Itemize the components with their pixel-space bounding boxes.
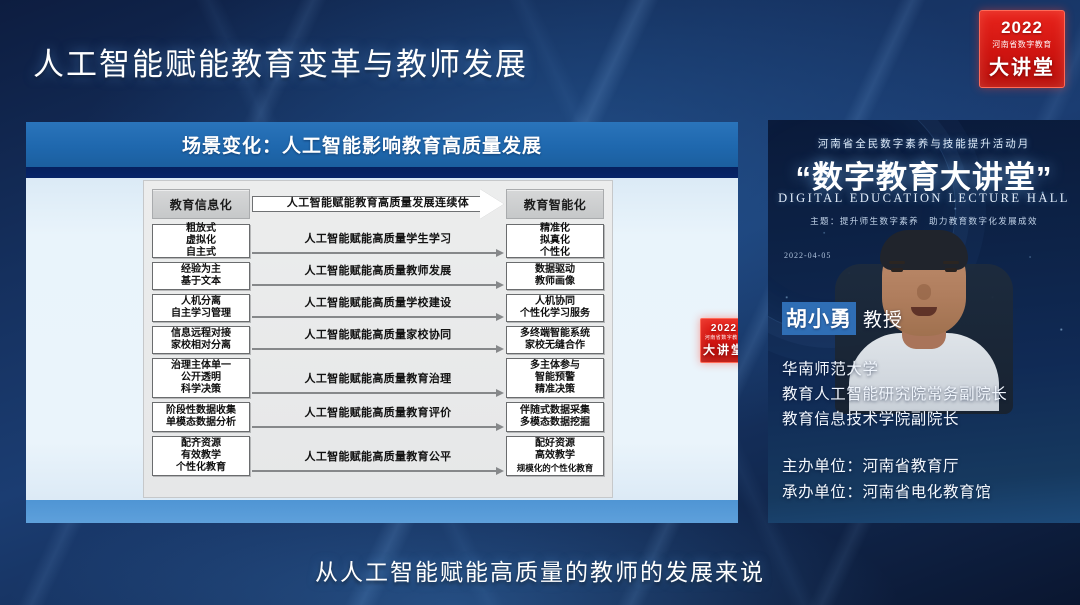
arrow-tip: [496, 313, 504, 321]
arrow-line: [252, 470, 497, 472]
arrow-line: [252, 392, 497, 394]
left-box-line: 单模态数据分析: [166, 417, 236, 429]
right-box-line: 高效教学: [535, 450, 575, 462]
left-cap-box: 教育信息化: [152, 189, 250, 219]
left-box-line: 个性化教育: [176, 462, 226, 474]
left-box-line: 自主学习管理: [171, 308, 231, 320]
video-banner-top: 河南省全民数字素养与技能提升活动月: [768, 136, 1080, 151]
left-box-line: 治理主体单一: [171, 360, 231, 372]
brand-logo-main: 大讲堂: [989, 51, 1055, 80]
continuum-label: 人工智能赋能教育高质量发展连续体: [252, 194, 504, 210]
diagram-row-right-box: 配好资源高效教学规模化的个性化教育: [506, 436, 604, 476]
right-box-line: 拟真化: [540, 235, 570, 247]
diagram-row-right-box: 伴随式数据采集多模态数据挖掘: [506, 402, 604, 432]
diagram-row-left-box: 粗放式虚拟化自主式: [152, 224, 250, 258]
slide-body: 教育信息化 人工智能赋能教育高质量发展连续体 教育智能化 粗放式虚拟化自主式人工…: [26, 178, 738, 500]
diagram-row-label: 人工智能赋能高质量学校建设: [252, 294, 504, 310]
speaker-name: 胡小勇: [782, 302, 856, 335]
slide-header: 场景变化：人工智能影响教育高质量发展: [26, 122, 738, 167]
arrow-line: [252, 426, 497, 428]
left-box-line: 公开透明: [181, 372, 221, 384]
right-box-line: 智能预警: [535, 372, 575, 384]
diagram-rows: 粗放式虚拟化自主式人工智能赋能高质量学生学习精准化拟真化个性化经验为主基于文本人…: [152, 224, 604, 476]
right-box-line: 家校无缝合作: [525, 340, 585, 352]
speaker-affiliations: 华南师范大学教育人工智能研究院常务副院长教育信息技术学院副院长: [782, 357, 1066, 432]
slide-brand-logo: 2022 河南省数字教育 大讲堂: [700, 318, 738, 363]
diagram-row-right-box: 数据驱动教师画像: [506, 262, 604, 290]
diagram-row-middle: 人工智能赋能高质量学校建设: [252, 294, 504, 322]
slide-brand-logo-subtitle: 河南省数字教育: [705, 334, 738, 341]
nose-shape: [917, 284, 931, 300]
diagram-row-middle: 人工智能赋能高质量教师发展: [252, 262, 504, 290]
eye-right: [945, 268, 957, 272]
slide-brand-logo-main: 大讲堂: [703, 341, 738, 358]
diagram-row-left-box: 阶段性数据收集单模态数据分析: [152, 402, 250, 432]
speaker-affiliation-line: 教育人工智能研究院常务副院长: [782, 382, 1066, 407]
right-box-line: 规模化的个性化教育: [517, 462, 594, 474]
diagram-row: 阶段性数据收集单模态数据分析人工智能赋能高质量教育评价伴随式数据采集多模态数据挖…: [152, 402, 604, 432]
diagram-row-middle: 人工智能赋能高质量学生学习: [252, 224, 504, 258]
left-box-line: 人机分离: [181, 296, 221, 308]
subtitle-caption: 从人工智能赋能高质量的教师的发展来说: [0, 553, 1080, 587]
left-box-line: 基于文本: [181, 276, 221, 288]
continuum-arrow: 人工智能赋能教育高质量发展连续体: [252, 192, 504, 216]
speaker-title: 教授: [863, 305, 903, 332]
left-box-line: 家校相对分离: [171, 340, 231, 352]
diagram-row-left-box: 治理主体单一公开透明科学决策: [152, 358, 250, 398]
eyebrow-right: [943, 261, 959, 264]
right-box-line: 多终端智能系统: [520, 328, 590, 340]
right-box-line: 人机协同: [535, 296, 575, 308]
brand-logo-year: 2022: [1001, 18, 1043, 38]
left-box-line: 科学决策: [181, 384, 221, 396]
diagram-row-right-box: 多主体参与智能预警精准决策: [506, 358, 604, 398]
eye-left: [891, 268, 903, 272]
arrow-tip: [496, 389, 504, 397]
diagram-row-middle: 人工智能赋能高质量教育公平: [252, 436, 504, 476]
diagram-row-arrow-icon: [252, 249, 504, 256]
diagram-row: 治理主体单一公开透明科学决策人工智能赋能高质量教育治理多主体参与智能预警精准决策: [152, 358, 604, 398]
left-box-line: 虚拟化: [186, 235, 216, 247]
left-box-line: 粗放式: [186, 223, 216, 235]
video-banner-english-title: DIGITAL EDUCATION LECTURE HALL: [768, 191, 1080, 206]
hair-shape: [880, 230, 968, 270]
slide-header-rule: [26, 167, 738, 178]
right-box-line: 个性化学习服务: [520, 308, 590, 320]
right-cap-box: 教育智能化: [506, 189, 604, 219]
speaker-name-row: 胡小勇 教授: [782, 302, 1066, 335]
diagram-row: 人机分离自主学习管理人工智能赋能高质量学校建设人机协同个性化学习服务: [152, 294, 604, 322]
screen: 人工智能赋能教育变革与教师发展 2022 河南省数字教育 大讲堂 场景变化：人工…: [0, 0, 1080, 605]
left-box-line: 有效教学: [181, 450, 221, 462]
arrow-tip: [496, 281, 504, 289]
arrow-tip: [496, 249, 504, 257]
arrow-line: [252, 252, 497, 254]
right-box-line: 教师画像: [535, 276, 575, 288]
right-box-line: 精准化: [540, 223, 570, 235]
diagram-row-label: 人工智能赋能高质量家校协同: [252, 326, 504, 342]
brand-logo-subtitle: 河南省数字教育: [992, 39, 1052, 50]
brand-logo: 2022 河南省数字教育 大讲堂: [979, 10, 1065, 88]
right-box-line: 伴随式数据采集: [520, 405, 590, 417]
arrow-tip: [496, 345, 504, 353]
continuum-diagram: 教育信息化 人工智能赋能教育高质量发展连续体 教育智能化 粗放式虚拟化自主式人工…: [143, 180, 613, 498]
speaker-info: 胡小勇 教授 华南师范大学教育人工智能研究院常务副院长教育信息技术学院副院长 主…: [768, 302, 1080, 506]
left-box-line: 信息远程对接: [171, 328, 231, 340]
diagram-row-arrow-icon: [252, 389, 504, 396]
right-box-line: 精准决策: [535, 384, 575, 396]
diagram-row-arrow-icon: [252, 345, 504, 352]
diagram-row: 经验为主基于文本人工智能赋能高质量教师发展数据驱动教师画像: [152, 262, 604, 290]
left-box-line: 配齐资源: [181, 438, 221, 450]
diagram-row-middle: 人工智能赋能高质量教育评价: [252, 402, 504, 432]
diagram-row-arrow-icon: [252, 423, 504, 430]
eyebrow-left: [889, 261, 905, 264]
diagram-row: 配齐资源有效教学个性化教育人工智能赋能高质量教育公平配好资源高效教学规模化的个性…: [152, 436, 604, 476]
right-box-line: 个性化: [540, 247, 570, 259]
arrow-tip: [496, 423, 504, 431]
speaker-organizer-line: 承办单位：河南省电化教育馆: [782, 480, 1066, 506]
diagram-row-left-box: 信息远程对接家校相对分离: [152, 326, 250, 354]
right-box-line: 多模态数据挖掘: [520, 417, 590, 429]
diagram-row-left-box: 配齐资源有效教学个性化教育: [152, 436, 250, 476]
slide-brand-logo-year: 2022: [711, 323, 737, 334]
diagram-row-arrow-icon: [252, 467, 504, 474]
right-box-line: 多主体参与: [530, 360, 580, 372]
right-box-line: 配好资源: [535, 438, 575, 450]
page-title: 人工智能赋能教育变革与教师发展: [33, 46, 528, 84]
left-box-line: 阶段性数据收集: [166, 405, 236, 417]
diagram-row: 信息远程对接家校相对分离人工智能赋能高质量家校协同多终端智能系统家校无缝合作: [152, 326, 604, 354]
diagram-row-label: 人工智能赋能高质量教育治理: [252, 370, 504, 386]
diagram-row-middle: 人工智能赋能高质量家校协同: [252, 326, 504, 354]
diagram-row-middle: 人工智能赋能高质量教育治理: [252, 358, 504, 398]
speaker-organizer-line: 主办单位：河南省教育厅: [782, 454, 1066, 480]
diagram-row-label: 人工智能赋能高质量教育公平: [252, 448, 504, 464]
left-box-line: 经验为主: [181, 264, 221, 276]
diagram-row-left-box: 人机分离自主学习管理: [152, 294, 250, 322]
slide-header-title: 场景变化：人工智能影响教育高质量发展: [182, 131, 582, 158]
diagram-row-left-box: 经验为主基于文本: [152, 262, 250, 290]
speaker-video-panel[interactable]: 河南省全民数字素养与技能提升活动月 “数字教育大讲堂” DIGITAL EDUC…: [768, 120, 1080, 523]
arrow-tip: [496, 467, 504, 475]
left-box-line: 自主式: [186, 247, 216, 259]
presentation-slide: 场景变化：人工智能影响教育高质量发展 教育信息化 人工智能赋能教育高质量发展连续…: [26, 122, 738, 523]
speaker-affiliation-line: 华南师范大学: [782, 357, 1066, 382]
slide-footer: [26, 500, 738, 523]
arrow-line: [252, 348, 497, 350]
diagram-row-label: 人工智能赋能高质量教师发展: [252, 262, 504, 278]
arrow-line: [252, 316, 497, 318]
diagram-row-arrow-icon: [252, 313, 504, 320]
diagram-row-label: 人工智能赋能高质量学生学习: [252, 230, 504, 246]
arrow-line: [252, 284, 497, 286]
diagram-row-right-box: 人机协同个性化学习服务: [506, 294, 604, 322]
video-banner-date: 2022-04-05: [784, 251, 831, 260]
diagram-row-right-box: 精准化拟真化个性化: [506, 224, 604, 258]
right-box-line: 数据驱动: [535, 264, 575, 276]
diagram-row: 粗放式虚拟化自主式人工智能赋能高质量学生学习精准化拟真化个性化: [152, 224, 604, 258]
speaker-affiliation-line: 教育信息技术学院副院长: [782, 407, 1066, 432]
diagram-row-arrow-icon: [252, 281, 504, 288]
speaker-organizers: 主办单位：河南省教育厅承办单位：河南省电化教育馆: [782, 454, 1066, 506]
diagram-header-row: 教育信息化 人工智能赋能教育高质量发展连续体 教育智能化: [152, 188, 604, 220]
diagram-row-label: 人工智能赋能高质量教育评价: [252, 404, 504, 420]
diagram-row-right-box: 多终端智能系统家校无缝合作: [506, 326, 604, 354]
